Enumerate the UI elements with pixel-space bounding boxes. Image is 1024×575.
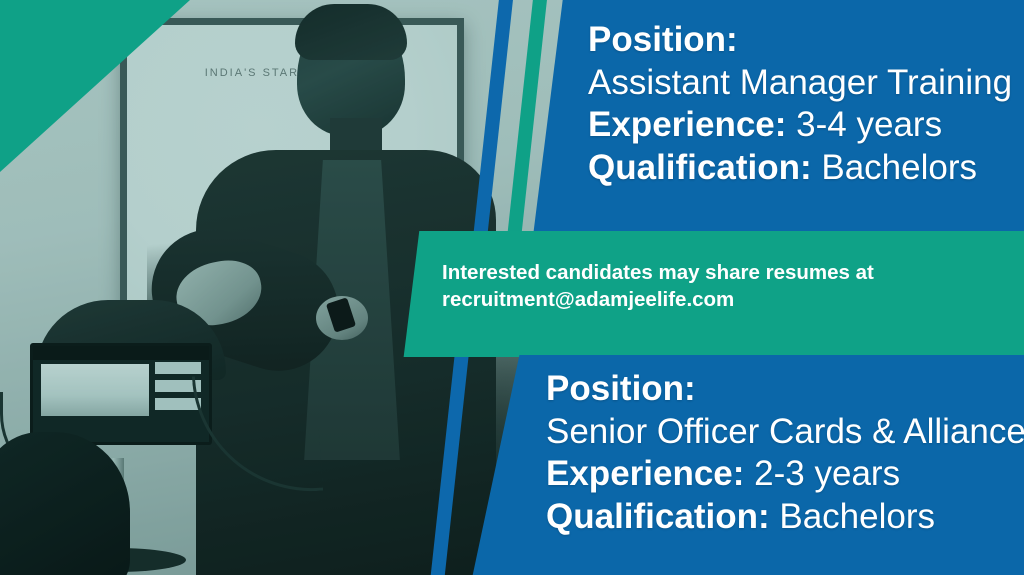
bottom-qualification-row: Qualification: Bachelors (546, 497, 1010, 538)
top-position-value-row: Assistant Manager Training (588, 63, 1010, 104)
bottom-experience-value: 2-3 years (754, 454, 900, 493)
contact-email[interactable]: recruitment@adamjeelife.com (442, 286, 1010, 313)
vacancy-panel-top: Position: Assistant Manager Training Exp… (480, 0, 1024, 238)
job-vacancy-banner: INDIA'S STARTUP STORY (0, 0, 1024, 575)
vacancy-panel-bottom: Position: Senior Officer Cards & Allianc… (440, 355, 1024, 575)
bottom-position-label: Position: (546, 369, 696, 408)
top-position-label-row: Position: (588, 20, 1010, 61)
top-qualification-row: Qualification: Bachelors (588, 148, 1010, 189)
bottom-position-value-row: Senior Officer Cards & Alliances (546, 412, 1010, 453)
bottom-qualification-value: Bachelors (779, 497, 935, 536)
contact-band-content: Interested candidates may share resumes … (442, 259, 1010, 313)
top-qualification-label: Qualification: (588, 148, 812, 187)
top-position-label: Position: (588, 20, 738, 59)
top-position-value: Assistant Manager Training (588, 63, 1012, 102)
bottom-experience-row: Experience: 2-3 years (546, 454, 1010, 495)
top-qualification-value: Bachelors (821, 148, 977, 187)
top-experience-row: Experience: 3-4 years (588, 105, 1010, 146)
bottom-position-label-row: Position: (546, 369, 1010, 410)
bottom-qualification-label: Qualification: (546, 497, 770, 536)
contact-instruction-line: Interested candidates may share resumes … (442, 259, 1010, 286)
top-experience-value: 3-4 years (796, 105, 942, 144)
bottom-position-value: Senior Officer Cards & Alliances (546, 412, 1024, 451)
vacancy-panel-top-content: Position: Assistant Manager Training Exp… (588, 20, 1010, 190)
top-experience-label: Experience: (588, 105, 786, 144)
bottom-experience-label: Experience: (546, 454, 744, 493)
contact-band: Interested candidates may share resumes … (398, 231, 1024, 357)
vacancy-panel-bottom-content: Position: Senior Officer Cards & Allianc… (546, 369, 1010, 539)
